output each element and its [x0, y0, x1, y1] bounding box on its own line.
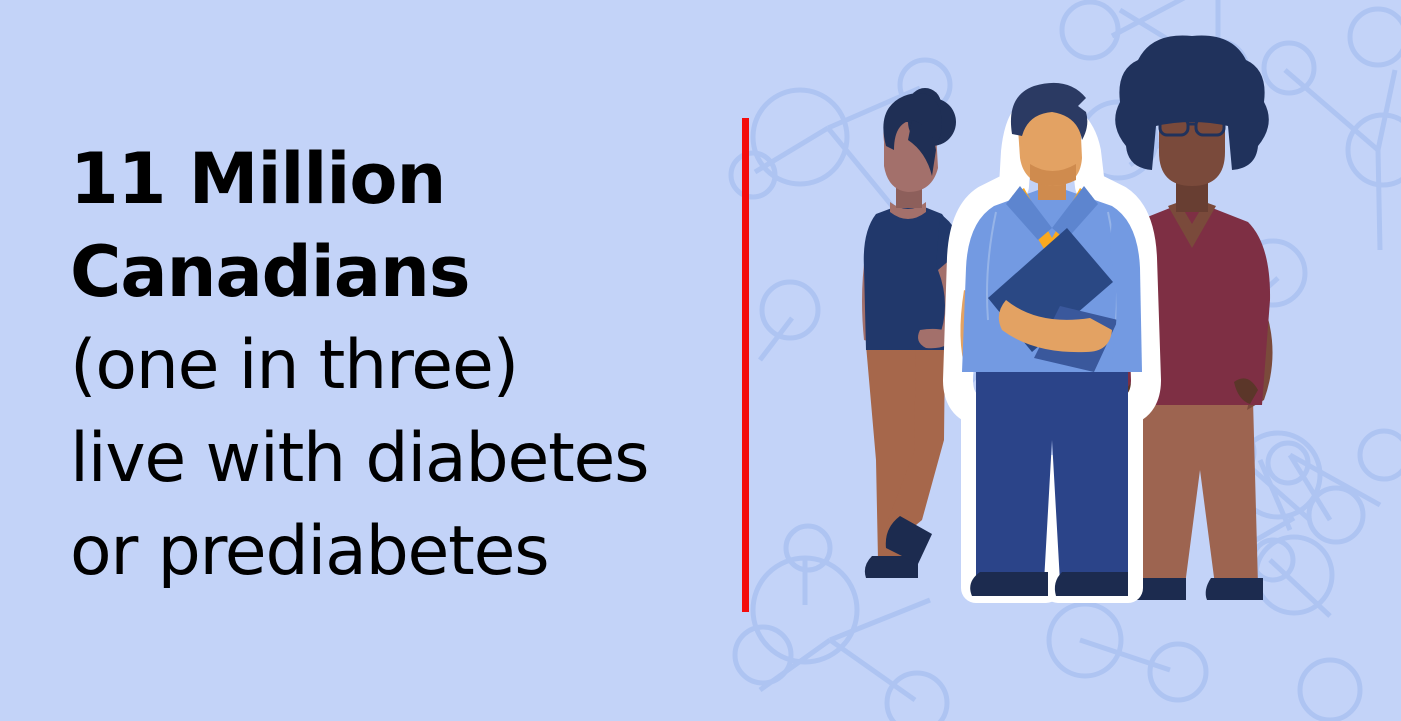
infographic-banner: 11 Million Canadians (one in three) live… — [0, 0, 1401, 721]
figure-healthcare-worker-center — [958, 83, 1146, 596]
three-people-illustration — [0, 0, 1401, 721]
